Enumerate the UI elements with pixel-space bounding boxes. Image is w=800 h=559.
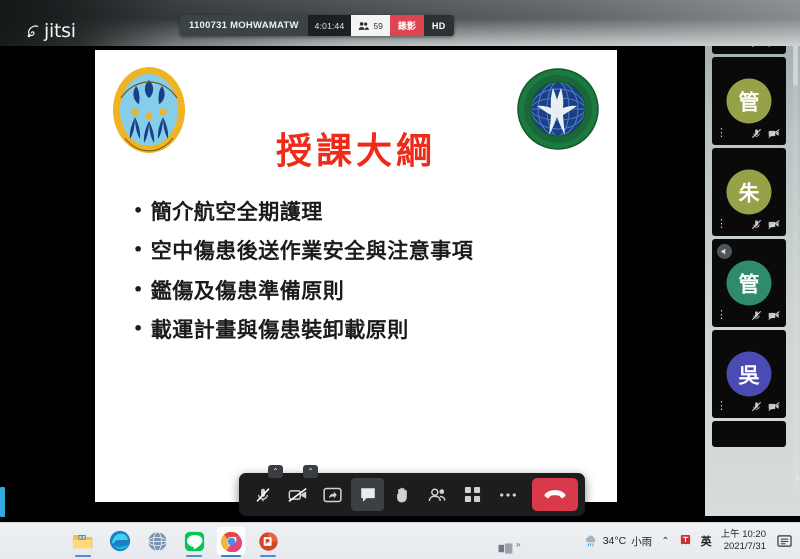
- microphone-button[interactable]: ⌃: [246, 478, 279, 511]
- taskbar-item-edge[interactable]: [105, 526, 135, 556]
- bullet-text: 載運計畫與傷患裝卸載原則: [151, 318, 409, 342]
- rain-icon: [584, 535, 598, 548]
- participant-thumbnail[interactable]: 管 ⋮: [712, 57, 786, 145]
- meeting-info-pill[interactable]: 1100731 MOHWAMATW 4:01:44 59 錄影 HD: [180, 15, 454, 36]
- chat-button[interactable]: [351, 478, 384, 511]
- ime-language-indicator[interactable]: 英: [701, 533, 712, 549]
- more-options-button[interactable]: [491, 478, 524, 511]
- participant-thumbnail[interactable]: 朱 ⋮: [712, 148, 786, 236]
- more-options-icon: [499, 492, 517, 498]
- clock-time: 上午 10:20: [721, 529, 766, 541]
- mic-muted-icon: [751, 128, 762, 139]
- list-item: • 空中傷患後送作業安全與注意事項: [133, 239, 593, 263]
- show-desktop-chevron: »: [516, 540, 520, 549]
- participant-thumbnail[interactable]: 吳 ⋮: [712, 330, 786, 418]
- notification-icon[interactable]: [777, 534, 792, 548]
- thumbnail-menu-icon[interactable]: ⋮: [718, 126, 723, 139]
- bullet-marker: •: [133, 239, 144, 261]
- mic-muted-icon: [751, 401, 762, 412]
- mic-muted-icon: [254, 486, 272, 504]
- filmstrip-scrollbar[interactable]: [793, 8, 798, 490]
- bullet-marker: •: [133, 318, 144, 340]
- jitsi-wordmark: jitsi: [44, 22, 76, 41]
- folder-icon: [72, 532, 94, 551]
- taskbar-item-line[interactable]: [179, 526, 209, 556]
- taskbar-item-file-explorer[interactable]: [68, 526, 98, 556]
- recording-badge: 錄影: [390, 15, 424, 36]
- bullet-text: 空中傷患後送作業安全與注意事項: [151, 239, 474, 263]
- chat-icon: [359, 486, 377, 504]
- camera-muted-icon: [768, 219, 780, 230]
- ime-status-icon[interactable]: [679, 534, 692, 548]
- globe-icon: [147, 531, 168, 552]
- windows-taskbar: 桌面 » 34°C 小雨 ⌃ 英 上午 10:20 2021/7/31: [0, 522, 800, 559]
- camera-options-button[interactable]: ⌃: [303, 465, 318, 478]
- camera-muted-icon: [768, 128, 780, 139]
- thumbnail-status-icons: [751, 128, 780, 139]
- jitsi-meeting-window: 授課大綱 • 簡介航空全期護理 • 空中傷患後送作業安全與注意事項 • 鑑傷及傷…: [0, 0, 800, 559]
- bullet-marker: •: [133, 279, 144, 301]
- people-icon: [358, 21, 369, 31]
- list-item: • 簡介航空全期護理: [133, 200, 593, 224]
- show-desktop-button[interactable]: 桌面 »: [498, 543, 520, 555]
- screenshare-button[interactable]: [316, 478, 349, 511]
- weather-condition: 小雨: [631, 534, 652, 549]
- avatar: 管: [727, 79, 772, 124]
- microphone-options-button[interactable]: ⌃: [268, 465, 283, 478]
- jitsi-logo[interactable]: jitsi: [26, 22, 76, 41]
- participant-thumbnail[interactable]: 管 ⋮: [712, 239, 786, 327]
- tile-view-icon: [464, 486, 481, 503]
- jitsi-mark-icon: [26, 24, 41, 40]
- dominant-speaker-icon: [717, 244, 732, 259]
- bullet-text: 鑑傷及傷患準備原則: [151, 279, 345, 303]
- weather-temperature: 34°C: [603, 535, 626, 547]
- taskbar-apps: [68, 526, 283, 556]
- thumbnail-menu-icon[interactable]: ⋮: [718, 217, 723, 230]
- bullet-marker: •: [133, 200, 144, 222]
- meeting-toolbar: ⌃ ⌃: [239, 473, 585, 516]
- meeting-timer: 4:01:44: [308, 15, 352, 36]
- taskbar-clock[interactable]: 上午 10:20 2021/7/31: [721, 529, 766, 552]
- camera-muted-icon: [768, 310, 780, 321]
- participants-icon: [428, 487, 448, 503]
- screen-share-icon: [323, 487, 342, 503]
- system-tray: 34°C 小雨 ⌃ 英 上午 10:20 2021/7/31: [584, 529, 800, 552]
- camera-button[interactable]: ⌃: [281, 478, 314, 511]
- line-icon: [184, 531, 205, 552]
- raise-hand-icon: [394, 486, 411, 504]
- taskbar-item-chrome[interactable]: [216, 526, 246, 556]
- participant-count: 59: [373, 21, 382, 31]
- task-view-icon: [498, 543, 513, 555]
- participant-count-badge[interactable]: 59: [351, 15, 389, 36]
- avatar: 管: [727, 261, 772, 306]
- mic-muted-icon: [751, 310, 762, 321]
- bullet-text: 簡介航空全期護理: [151, 200, 323, 224]
- hangup-icon: [544, 488, 566, 501]
- clock-date: 2021/7/31: [721, 541, 766, 553]
- list-item: • 載運計畫與傷患裝卸載原則: [133, 318, 593, 342]
- thumbnail-status-icons: [751, 401, 780, 412]
- shared-screen-stage: 授課大綱 • 簡介航空全期護理 • 空中傷患後送作業安全與注意事項 • 鑑傷及傷…: [0, 38, 712, 516]
- mic-muted-icon: [751, 219, 762, 230]
- tray-expand-chevron[interactable]: ⌃: [661, 536, 669, 547]
- slide-bullet-list: • 簡介航空全期護理 • 空中傷患後送作業安全與注意事項 • 鑑傷及傷患準備原則…: [133, 200, 593, 342]
- taskbar-item-browser[interactable]: [142, 526, 172, 556]
- edge-icon: [109, 530, 131, 552]
- avatar: 吳: [727, 352, 772, 397]
- participant-thumbnail[interactable]: [712, 421, 786, 447]
- taskbar-item-powerpoint[interactable]: [253, 526, 283, 556]
- participants-button[interactable]: [421, 478, 454, 511]
- camera-muted-icon: [768, 401, 780, 412]
- slide-title: 授課大綱: [95, 122, 617, 174]
- thumbnail-status-icons: [751, 219, 780, 230]
- weather-widget[interactable]: 34°C 小雨: [584, 534, 652, 549]
- jitsi-top-bar: jitsi 1100731 MOHWAMATW 4:01:44 59 錄影 HD: [0, 0, 800, 46]
- thumbnail-menu-icon[interactable]: ⋮: [718, 399, 723, 412]
- thumbnail-menu-icon[interactable]: ⋮: [718, 308, 723, 321]
- filmstrip-next-icon[interactable]: ›: [796, 469, 800, 484]
- chrome-icon: [221, 531, 242, 552]
- list-item: • 鑑傷及傷患準備原則: [133, 279, 593, 303]
- left-edge-accent: [0, 487, 5, 517]
- raise-hand-button[interactable]: [386, 478, 419, 511]
- avatar: 朱: [727, 170, 772, 215]
- hangup-button[interactable]: [532, 478, 578, 511]
- quality-badge[interactable]: HD: [424, 15, 454, 36]
- camera-muted-icon: [288, 487, 308, 503]
- thumbnail-status-icons: [751, 310, 780, 321]
- tile-view-button[interactable]: [456, 478, 489, 511]
- presentation-slide: 授課大綱 • 簡介航空全期護理 • 空中傷患後送作業安全與注意事項 • 鑑傷及傷…: [95, 50, 617, 502]
- powerpoint-icon: [258, 531, 279, 552]
- filmstrip[interactable]: P ⋮ 管 ⋮: [712, 8, 790, 490]
- meeting-name: 1100731 MOHWAMATW: [180, 15, 308, 36]
